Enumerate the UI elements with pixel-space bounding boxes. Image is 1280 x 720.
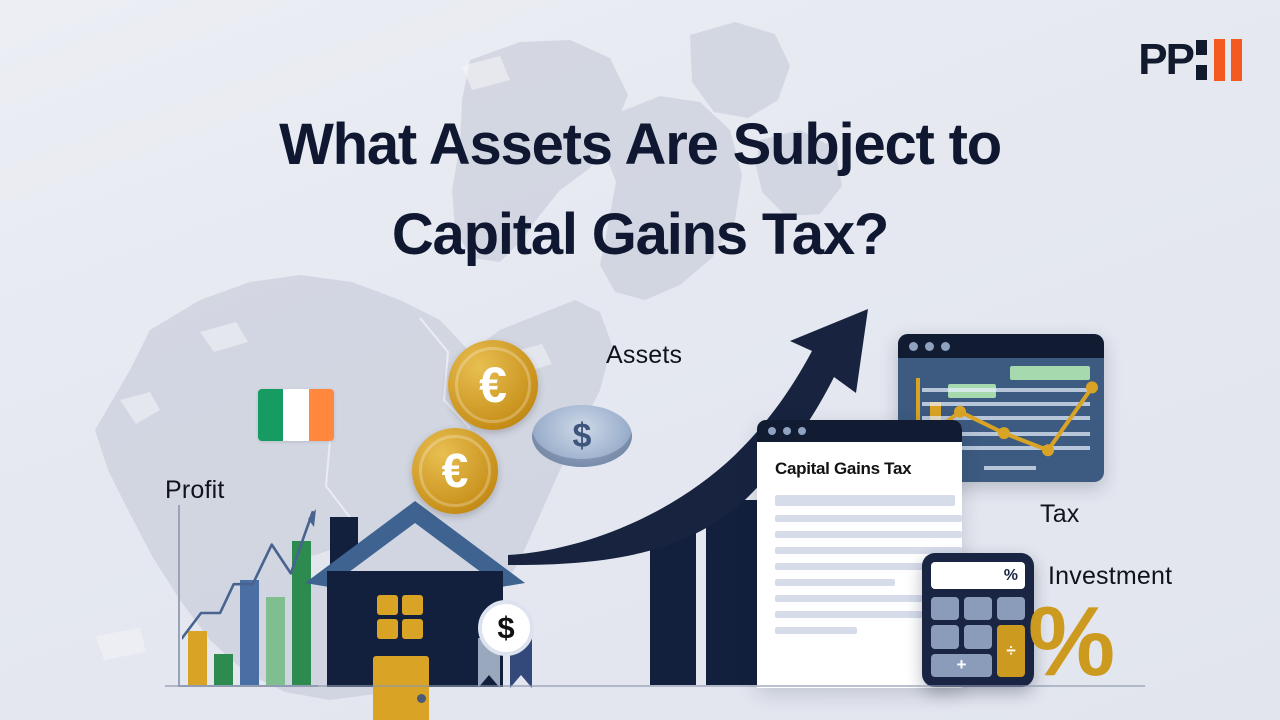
chart-data-point: [954, 406, 966, 418]
calculator-key[interactable]: [931, 597, 959, 620]
document-text-line: [775, 495, 955, 506]
dollar-badge-icon: $: [470, 600, 540, 690]
logo-bars-icon: [1214, 39, 1242, 81]
logo-wordmark: PP: [1138, 38, 1193, 82]
document-titlebar: [757, 420, 962, 442]
calculator-keypad: ÷ +: [931, 597, 1025, 677]
chart-window-titlebar: [898, 334, 1104, 358]
document-text-line: [775, 579, 895, 586]
page-title-line-1: What Assets Are Subject to: [279, 112, 1001, 177]
document-text-line: [775, 627, 857, 634]
calculator-key[interactable]: [931, 625, 959, 648]
poster-canvas: PP What Assets Are Subject to Capital Ga…: [0, 0, 1280, 720]
window-dot-icon[interactable]: [941, 342, 950, 351]
label-tax: Tax: [1040, 500, 1080, 529]
calculator-key[interactable]: [964, 597, 992, 620]
document-title: Capital Gains Tax: [775, 459, 962, 479]
page-title: What Assets Are Subject to Capital Gains…: [0, 100, 1280, 280]
dollar-symbol: $: [573, 417, 592, 456]
chart-data-point: [998, 427, 1010, 439]
window-dot-icon[interactable]: [925, 342, 934, 351]
coin-disc: [522, 545, 642, 585]
coin-disc: [522, 589, 642, 629]
calculator-key[interactable]: [997, 597, 1025, 620]
window-dot-icon[interactable]: [798, 427, 806, 435]
euro-symbol: €: [479, 356, 507, 414]
calculator-key[interactable]: [964, 625, 992, 648]
calculator-divide-key[interactable]: ÷: [997, 625, 1025, 677]
euro-coin-icon: €: [412, 428, 498, 514]
brand-logo[interactable]: PP: [1138, 36, 1242, 84]
euro-symbol: €: [442, 444, 469, 499]
flag-stripe-green: [258, 389, 283, 441]
house-window-icon: [377, 595, 423, 639]
ireland-flag-icon: [258, 389, 334, 441]
badge-dollar-symbol: $: [497, 610, 514, 646]
flag-stripe-orange: [309, 389, 334, 441]
window-dot-icon[interactable]: [909, 342, 918, 351]
chart-y-axis: [178, 505, 180, 687]
chart-data-point: [1042, 444, 1054, 456]
calculator-icon[interactable]: % ÷ +: [922, 553, 1034, 687]
label-profit: Profit: [165, 476, 225, 505]
document-text-line: [775, 515, 962, 522]
house-door-knob: [417, 694, 426, 703]
coin-disc: [522, 633, 642, 673]
badge-disc: $: [478, 600, 534, 656]
window-dot-icon[interactable]: [783, 427, 791, 435]
chart-data-point: [1086, 381, 1098, 393]
window-dot-icon[interactable]: [768, 427, 776, 435]
coin-disc: [522, 501, 642, 541]
house-door: [373, 656, 429, 720]
calculator-display: %: [931, 562, 1025, 589]
page-title-line-2: Capital Gains Tax?: [0, 190, 1280, 280]
percent-symbol-icon: %: [1028, 592, 1111, 690]
coin-top-dollar: $: [532, 405, 632, 467]
profit-bar-chart: [178, 505, 318, 687]
ground-line: [165, 685, 1145, 687]
calculator-plus-key[interactable]: +: [931, 654, 992, 677]
flag-stripe-white: [283, 389, 308, 441]
chart-trend-arrow-icon: [182, 505, 318, 685]
logo-colon-icon: [1196, 40, 1207, 80]
document-text-line: [775, 531, 962, 538]
